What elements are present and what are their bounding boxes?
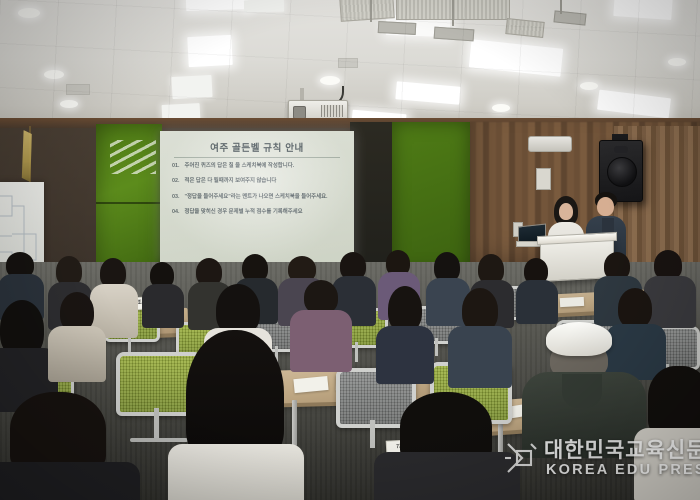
photo-scene: 여주 골든벨 규칙 안내 01. 주어진 퀴즈의 답은 칠 을 스케치북에 작성… [0,0,700,500]
speaker-tweeter [614,146,628,153]
hair [186,330,284,462]
ceiling-duct [553,10,586,25]
hood [562,374,602,408]
ceiling-light-panel [613,0,672,20]
hair [10,392,106,472]
ceiling-downlight [18,8,40,18]
ceiling-duct [434,27,475,42]
paper-sheet [293,376,328,393]
hair [304,280,338,314]
slide-rule-number: 03. [172,194,180,201]
chalkboard-glare [110,140,156,174]
ceiling [0,0,700,132]
hair [648,366,700,436]
ceiling-downlight [580,82,598,90]
torso [448,326,512,388]
slide-divider [174,157,340,158]
ceiling-light-panel [469,39,563,76]
ceiling-light-panel [386,15,451,37]
ceiling-light-panel [186,0,249,11]
chair-post [154,408,159,438]
green-wall-panel [392,122,470,272]
torso [374,452,520,500]
chair-post [355,342,358,362]
torso [290,310,352,372]
head [559,203,573,220]
ceiling-downlight [44,70,64,79]
torso [168,444,304,500]
ceiling-light-panel [187,35,233,67]
torso [644,276,696,328]
ceiling-downlight [320,76,340,85]
air-conditioner-vent [528,136,572,152]
torso [0,462,140,500]
slide-rule-item: 04. 정답을 맞히신 경우 문제별 누적 점수를 기록해주세요 [172,209,346,216]
paper-sheet [560,297,584,307]
slide-rule-text: 적은 답은 다 될때까지 보여주지 않습니다 [185,178,277,185]
chair-post [435,338,438,356]
ceiling-downlight [60,100,78,108]
projection-screen: 여주 골든벨 규칙 안내 01. 주어진 퀴즈의 답은 칠 을 스케치북에 작성… [160,131,354,263]
white-cap [546,322,612,356]
ceiling-light-panel [244,0,284,12]
slide-rule-item: 03. "정답을 들어주세요"라는 멘트가 나오면 스케치북을 들어주세요. [172,194,346,201]
slide-rule-text: 정답을 맞히신 경우 문제별 누적 점수를 기록해주세요 [185,209,303,216]
ceiling-downlight [396,22,406,28]
slide-rule-text: 주어진 퀴즈의 답은 칠 을 스케치북에 작성합니다. [185,163,295,170]
slide-title: 여주 골든벨 규칙 안내 [160,140,354,154]
ceiling-hanger [560,0,562,14]
projector-vent [321,105,343,117]
air-diffuser [339,0,395,22]
ceiling-light-panel [171,75,212,99]
slide-rule-text: "정답을 들어주세요"라는 멘트가 나오면 스케치북을 들어주세요. [185,194,328,201]
podium [540,236,614,282]
ceiling-duct [378,21,417,35]
speaker-woofer [607,157,637,187]
ceiling-light-panel [395,81,460,105]
torso [48,326,106,382]
torso [634,428,700,500]
slide-rule-number: 04. [172,209,180,216]
wall-mounted-box [536,168,551,190]
ceiling-hanger [452,0,454,26]
ceiling-light-panel [597,90,671,119]
torso [516,280,558,324]
slide-rule-number: 02. [172,178,180,185]
slide-rule-item: 01. 주어진 퀴즈의 답은 칠 을 스케치북에 작성합니다. [172,163,346,170]
chair-post [370,420,375,448]
torso [376,326,434,384]
chalkboard-seam [96,202,162,204]
slide-rule-item: 02. 적은 답은 다 될때까지 보여주지 않습니다 [172,178,346,185]
ceiling-duct [338,58,358,68]
air-diffuser [505,18,544,38]
torso [142,284,184,328]
chair-base [130,438,188,442]
air-diffuser [396,0,510,20]
table-leg [292,400,297,446]
ceiling-downlight [492,104,510,112]
head [597,197,614,216]
hair [618,288,652,328]
ceiling-hanger [370,0,372,22]
slide-body: 01. 주어진 퀴즈의 답은 칠 을 스케치북에 작성합니다. 02. 적은 답… [172,163,346,224]
ceiling-duct [66,84,90,95]
ceiling-downlight [668,58,686,66]
slide-rule-number: 01. [172,163,180,170]
